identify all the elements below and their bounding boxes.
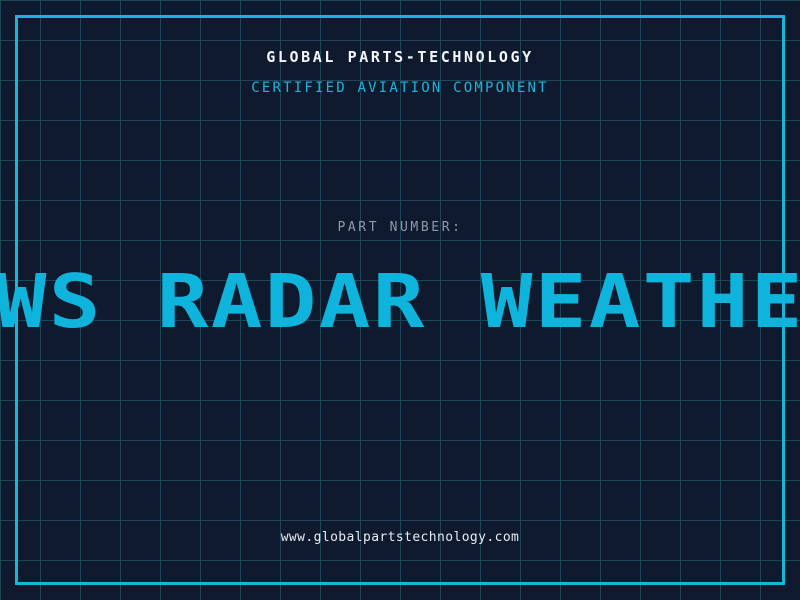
website-url: www.globalpartstechnology.com — [0, 530, 800, 545]
part-number-value: NWS RADAR WEATHER — [0, 266, 800, 338]
company-title: GLOBAL PARTS-TECHNOLOGY — [0, 48, 800, 66]
part-number-label: PART NUMBER: — [0, 220, 800, 235]
part-number-card: GLOBAL PARTS-TECHNOLOGY CERTIFIED AVIATI… — [0, 0, 800, 600]
part-number-container: NWS RADAR WEATHER — [0, 266, 800, 338]
company-subtitle: CERTIFIED AVIATION COMPONENT — [0, 80, 800, 96]
